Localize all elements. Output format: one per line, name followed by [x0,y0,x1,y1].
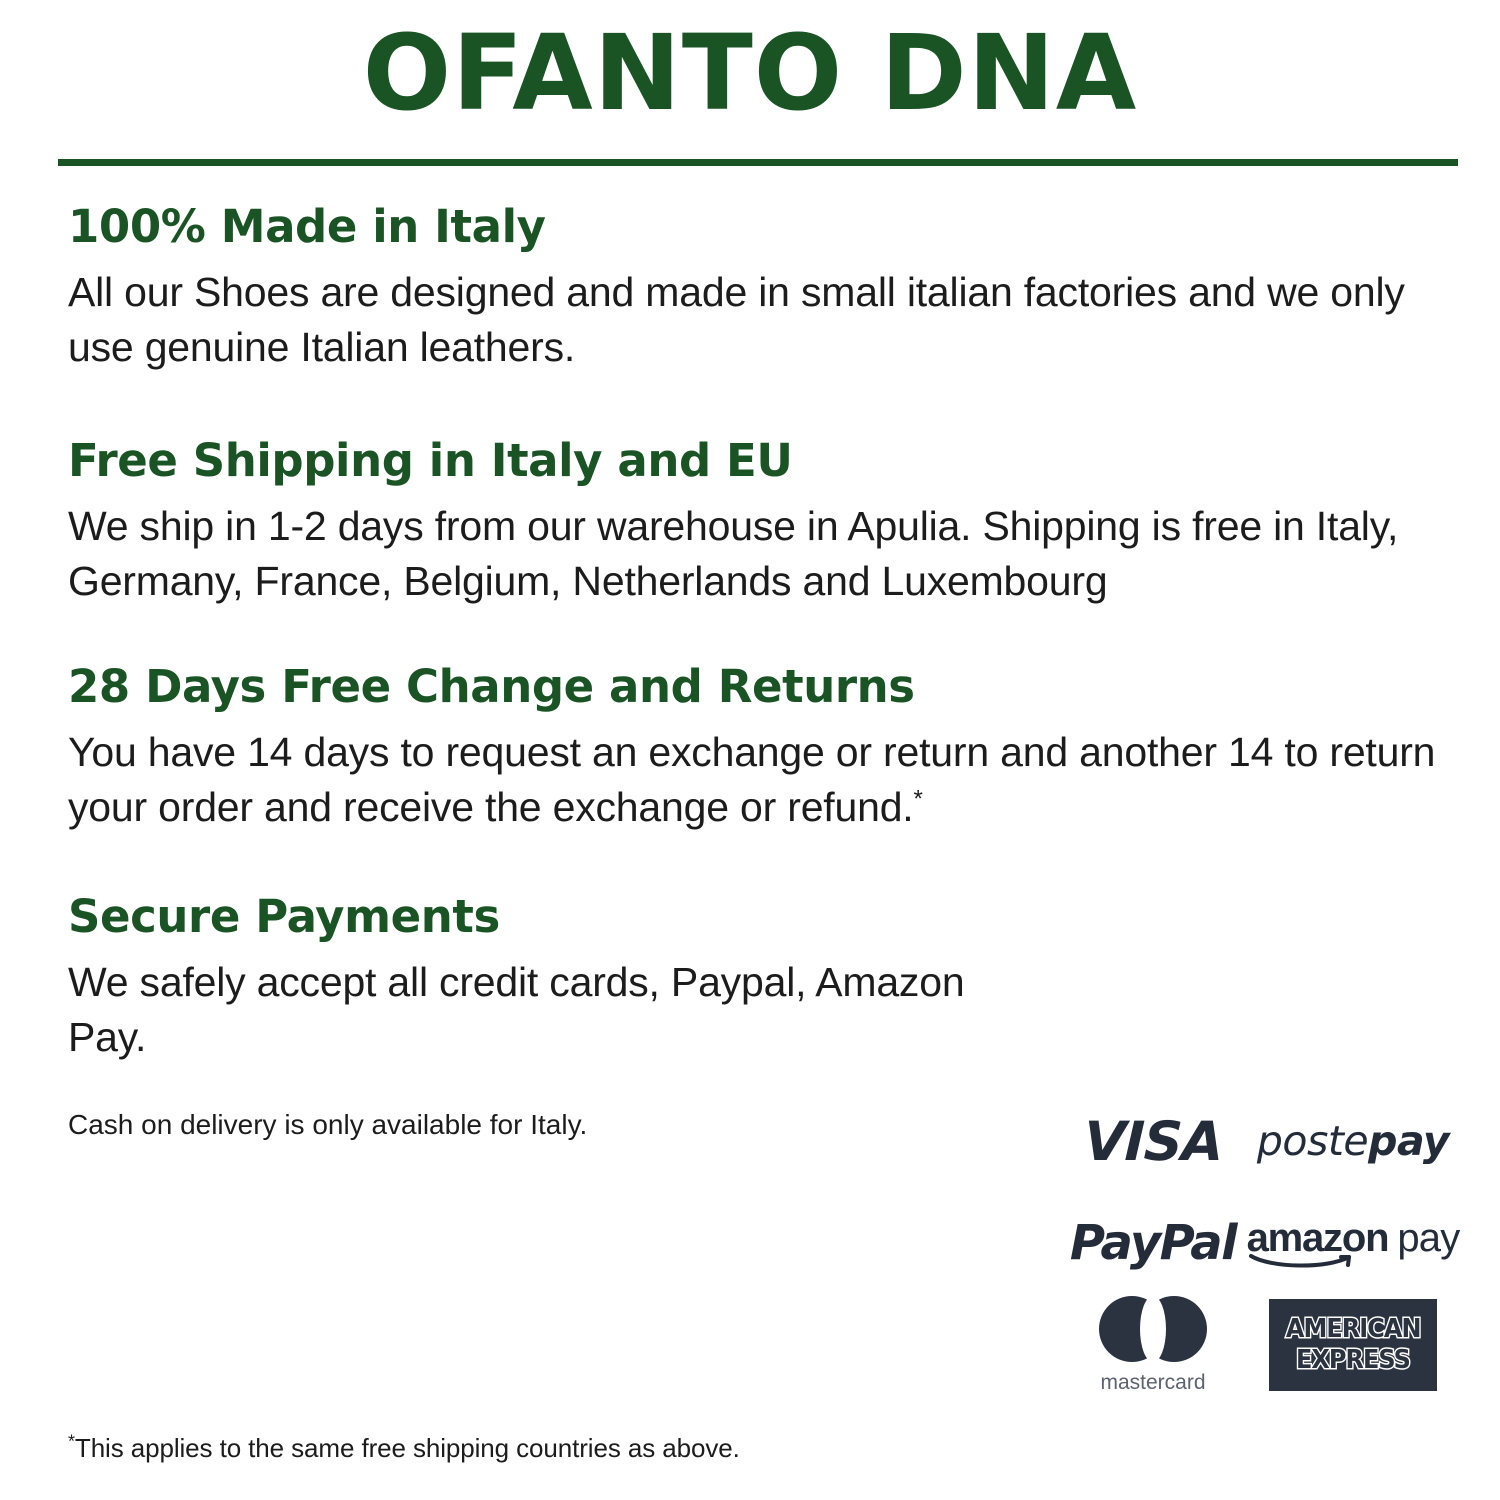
section-heading-free-shipping: Free Shipping in Italy and EU [68,434,1458,487]
postepay-logo-cell: postepay [1251,1117,1455,1165]
amazon-pay-logo-cell: amazon pay [1251,1218,1455,1268]
payment-logos-row-1: VISA postepay [1055,1090,1455,1192]
postepay-icon: postepay [1257,1117,1449,1165]
paypal-logo-cell: PayPal [1055,1215,1251,1271]
payment-logos-grid: VISA postepay PayPal amazon pay [1055,1090,1455,1396]
visa-icon: VISA [1083,1110,1224,1173]
mastercard-icon: mastercard [1099,1296,1207,1395]
amex-line-one: AMERICAN [1286,1316,1421,1343]
section-body-free-shipping: We ship in 1-2 days from our warehouse i… [68,499,1458,608]
section-body-change-and-returns-text: You have 14 days to request an exchange … [68,729,1435,830]
american-express-logo-cell: AMERICAN EXPRESS [1251,1299,1455,1391]
ofanto-dna-info-panel: OFANTO DNA 100% Made in Italy All our Sh… [0,0,1500,1500]
returns-footnote-marker: * [914,785,923,812]
mastercard-overlap-lens [1140,1296,1166,1362]
amex-line-two: EXPRESS [1296,1347,1410,1374]
amazon-smile-icon [1249,1253,1357,1269]
footnote-marker: * [68,1431,75,1451]
paypal-icon: PayPal [1070,1215,1236,1271]
amazon-wordmark: amazon [1247,1218,1389,1268]
payment-logos-row-3: mastercard AMERICAN EXPRESS [1055,1294,1455,1396]
title-divider [58,159,1458,166]
section-heading-change-and-returns: 28 Days Free Change and Returns [68,660,1458,713]
mastercard-circles [1099,1296,1207,1362]
american-express-icon: AMERICAN EXPRESS [1269,1299,1437,1391]
section-body-secure-payments: We safely accept all credit cards, Paypa… [68,955,968,1064]
payment-logos-row-2: PayPal amazon pay [1055,1192,1455,1294]
page-title: OFANTO DNA [0,14,1500,134]
section-heading-secure-payments: Secure Payments [68,890,968,943]
amazon-pay-label: pay [1397,1218,1459,1268]
section-change-and-returns: 28 Days Free Change and Returns You have… [68,660,1458,834]
section-made-in-italy: 100% Made in Italy All our Shoes are des… [68,200,1458,374]
amazon-pay-icon: amazon pay [1247,1218,1460,1268]
cash-on-delivery-note: Cash on delivery is only available for I… [68,1107,968,1143]
postepay-label-bold: pay [1368,1117,1449,1165]
mastercard-label: mastercard [1100,1371,1205,1395]
visa-logo-cell: VISA [1055,1110,1251,1173]
content-column: 100% Made in Italy All our Shoes are des… [68,200,1458,1143]
footnote-text: This applies to the same free shipping c… [75,1433,740,1463]
section-body-change-and-returns: You have 14 days to request an exchange … [68,725,1458,834]
page-footnote: *This applies to the same free shipping … [68,1432,740,1466]
section-free-shipping: Free Shipping in Italy and EU We ship in… [68,434,1458,608]
secure-payments-text-block: Secure Payments We safely accept all cre… [68,890,968,1143]
section-body-made-in-italy: All our Shoes are designed and made in s… [68,265,1458,374]
mastercard-logo-cell: mastercard [1055,1296,1251,1395]
postepay-label-regular: poste [1257,1117,1368,1165]
section-heading-made-in-italy: 100% Made in Italy [68,200,1458,253]
